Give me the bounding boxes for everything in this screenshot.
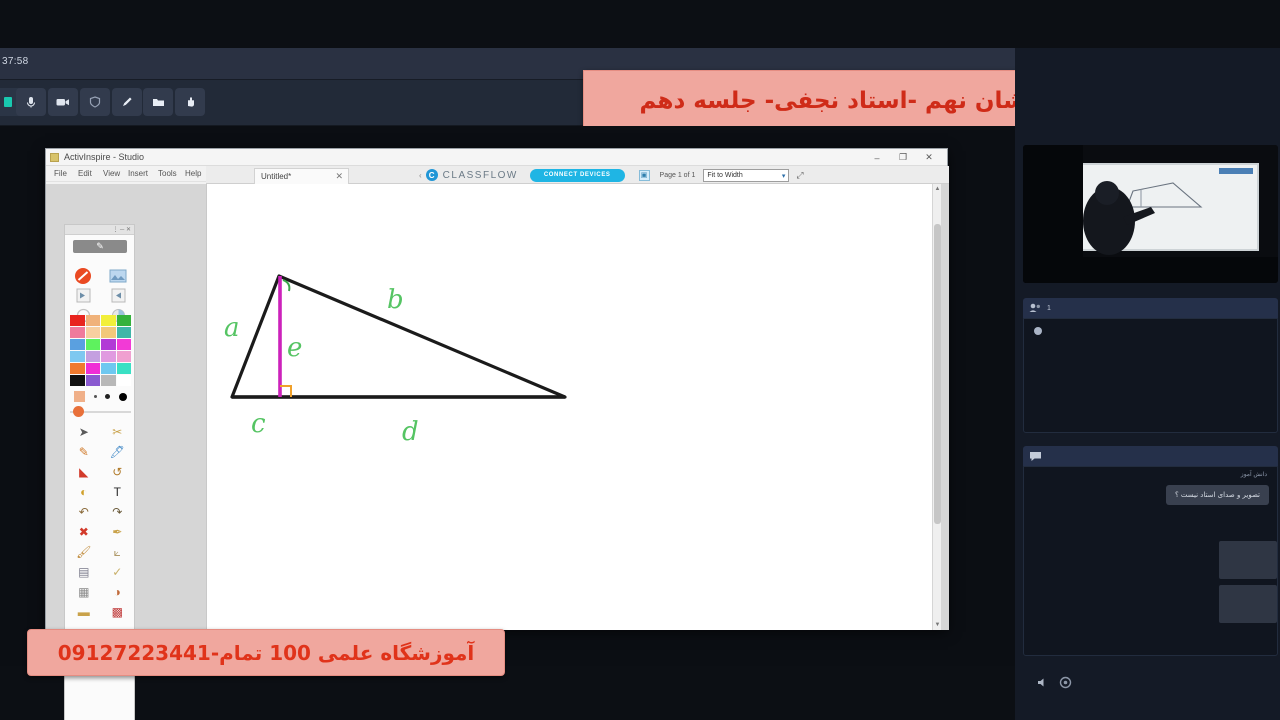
participants-icon — [1029, 303, 1041, 313]
triangle-diagram: a b c d e — [207, 184, 942, 630]
color-swatch[interactable] — [86, 375, 101, 386]
expand-icon[interactable]: ⤢ — [796, 170, 803, 181]
pen-size-swatch[interactable] — [74, 391, 85, 402]
chat-icon — [1029, 451, 1042, 462]
label-d: d — [402, 417, 419, 447]
label-b: b — [387, 285, 404, 315]
pages-panel-icon[interactable]: ▣ — [639, 170, 650, 181]
eraser-icon[interactable]: ◣ — [68, 463, 100, 481]
toolbar-button-shield[interactable] — [80, 88, 110, 116]
close-button[interactable]: ✕ — [917, 150, 941, 165]
close-icon[interactable]: ✕ — [335, 171, 343, 182]
scissors-icon[interactable]: ✂ — [102, 423, 134, 441]
chevron-left-icon[interactable]: ‹ — [419, 171, 422, 180]
label-e: e — [287, 333, 302, 363]
color-swatch[interactable] — [86, 339, 101, 350]
toolbar-button-camera[interactable] — [48, 88, 78, 116]
color-swatch[interactable] — [101, 339, 116, 350]
color-swatch[interactable] — [70, 315, 85, 326]
folder-icon — [151, 95, 166, 109]
color-swatch[interactable] — [86, 363, 101, 374]
palette-icon[interactable]: ◑ — [102, 583, 134, 601]
menu-edit[interactable]: Edit — [78, 169, 92, 178]
no-entry-tool[interactable] — [70, 267, 96, 284]
marker-icon[interactable]: ✒ — [102, 523, 134, 541]
chat-message-bubble: تصویر و صدای استاد نیست ؟ — [1166, 485, 1269, 505]
color-swatch[interactable] — [101, 375, 116, 386]
toolbar-button-hand[interactable] — [175, 88, 205, 116]
color-swatch[interactable] — [70, 351, 85, 362]
minimize-button[interactable]: – — [865, 150, 889, 165]
shape-fill-icon[interactable]: ◐ — [68, 483, 100, 501]
classflow-bar: ‹ C CLASSFLOW CONNECT DEVICES ▣ Page 1 o… — [416, 167, 949, 183]
exit-icon — [2, 95, 16, 109]
connect-devices-button[interactable]: CONNECT DEVICES — [530, 169, 625, 182]
color-swatch[interactable] — [86, 351, 101, 362]
scroll-up-icon[interactable]: ▲ — [934, 185, 941, 193]
save-icon[interactable]: ▤ — [68, 563, 100, 581]
pen-icon: ✎ — [96, 241, 104, 252]
scroll-down-icon[interactable]: ▼ — [934, 621, 941, 629]
palette-icon-grid: ➤✂✎🖊◣↺◐T↶↷✖✒🖌⟀▤✓▦◑▬▩ — [68, 423, 133, 621]
scrollbar-thumb[interactable] — [934, 224, 941, 524]
contact-banner-text: آموزشگاه علمی 100 تمام-09127223441 — [58, 641, 475, 665]
menu-insert[interactable]: Insert — [128, 169, 148, 178]
chat-sender-name: دانش آموز — [1241, 471, 1267, 478]
select-arrow-icon[interactable]: ➤ — [68, 423, 100, 441]
pen-size-xs-icon[interactable] — [94, 395, 97, 398]
chat-messages-list[interactable]: دانش آموز تصویر و صدای استاد نیست ؟ — [1023, 466, 1278, 656]
settings-icon[interactable] — [1059, 676, 1072, 689]
classflow-logo-text: CLASSFLOW — [443, 170, 518, 181]
color-swatch[interactable] — [117, 375, 132, 386]
zoom-select-value: Fit to Width — [707, 172, 742, 179]
color-swatch[interactable] — [117, 351, 132, 362]
thickness-slider[interactable] — [70, 405, 131, 418]
toolbar-button-share[interactable] — [143, 88, 173, 116]
participants-panel-header[interactable]: 1 — [1023, 298, 1278, 318]
compass-icon[interactable]: ⟀ — [102, 543, 134, 561]
teacher-camera-feed[interactable] — [1023, 145, 1278, 283]
palette-handle[interactable]: ⋮ ─ ✕ — [65, 225, 134, 235]
grid-icon[interactable]: ▩ — [102, 603, 134, 621]
slider-handle[interactable] — [73, 406, 84, 417]
toolbar-button-mic[interactable] — [16, 88, 46, 116]
color-swatch[interactable] — [117, 327, 132, 338]
undo-arrow-icon[interactable]: ↺ — [102, 463, 134, 481]
text-tool-icon[interactable]: T — [102, 483, 134, 501]
previous-page-tool[interactable] — [70, 287, 96, 304]
page-left-icon — [75, 288, 92, 303]
color-swatch[interactable] — [117, 363, 132, 374]
activinspire-titlebar: ActivInspire - Studio – ❐ ✕ — [46, 149, 947, 166]
activinspire-body: a b c d e ▲ ▼ ⋮ ─ ✕ ✎ — [46, 184, 949, 630]
page-right-icon — [110, 288, 127, 303]
label-a: a — [224, 313, 240, 343]
participant-status-dot — [1034, 327, 1042, 335]
video-frame — [1023, 145, 1278, 283]
sidebar-footer — [1023, 668, 1278, 696]
color-swatch-grid — [70, 315, 131, 386]
document-tab[interactable]: Untitled* ✕ — [254, 168, 349, 184]
chat-panel-header[interactable] — [1023, 446, 1278, 466]
classflow-logo-icon: C — [426, 169, 438, 181]
document-tab-label: Untitled* — [261, 172, 291, 181]
paint-icon[interactable]: 🖌 — [68, 543, 100, 561]
conference-sidebar: 1 دانش آموز تصویر و صدای استاد نیست ؟ — [1015, 48, 1280, 720]
contact-banner: آموزشگاه علمی 100 تمام-09127223441 — [27, 629, 505, 676]
color-swatch[interactable] — [70, 375, 85, 386]
menu-tools[interactable]: Tools — [158, 169, 177, 178]
canvas-scrollbar[interactable]: ▲ ▼ — [932, 184, 941, 630]
chat-message-placeholder — [1219, 541, 1277, 579]
palette-row-primary — [70, 267, 131, 284]
color-swatch[interactable] — [101, 351, 116, 362]
participants-list[interactable] — [1023, 318, 1278, 433]
undo-icon[interactable]: ↶ — [68, 503, 100, 521]
shield-icon — [88, 95, 102, 109]
app-logo-icon — [50, 153, 59, 162]
redo-icon[interactable]: ↷ — [102, 503, 134, 521]
folder-icon[interactable]: ▬ — [68, 603, 100, 621]
delete-star-icon[interactable]: ✖ — [68, 523, 100, 541]
color-swatch[interactable] — [70, 327, 85, 338]
microphone-icon — [24, 95, 38, 109]
image-tool-icon — [109, 268, 127, 284]
color-swatch[interactable] — [86, 315, 101, 326]
label-c: c — [251, 409, 266, 439]
menu-view[interactable]: View — [103, 169, 120, 178]
whiteboard-canvas[interactable]: a b c d e ▲ ▼ — [206, 184, 941, 630]
image-tool[interactable] — [105, 267, 131, 284]
hand-icon — [183, 95, 197, 109]
pen-size-m-icon[interactable] — [119, 393, 127, 401]
participants-count: 1 — [1047, 305, 1051, 312]
toolbar-button-pen[interactable] — [112, 88, 142, 116]
speaker-icon[interactable] — [1037, 677, 1049, 688]
activinspire-window: ActivInspire - Studio – ❐ ✕ File Edit Vi… — [45, 148, 948, 629]
page-icon[interactable]: ▦ — [68, 583, 100, 601]
palette-main-button[interactable]: ✎ — [73, 240, 127, 253]
color-swatch[interactable] — [70, 339, 85, 350]
screen-root: 37:58 تیزهوشان نهم : ١ — [0, 0, 1280, 720]
color-swatch[interactable] — [117, 339, 132, 350]
menu-file[interactable]: File — [54, 169, 67, 178]
maximize-button[interactable]: ❐ — [891, 150, 915, 165]
color-swatch[interactable] — [101, 363, 116, 374]
session-clock: 37:58 — [2, 56, 29, 67]
color-swatch[interactable] — [101, 315, 116, 326]
no-entry-icon — [74, 267, 92, 285]
page-indicator: Page 1 of 1 — [660, 172, 696, 179]
chevron-down-icon: ▾ — [782, 172, 786, 180]
pen-size-s-icon[interactable] — [105, 394, 110, 399]
menu-help[interactable]: Help — [185, 169, 201, 178]
pen-icon[interactable]: ✎ — [68, 443, 100, 461]
next-page-tool[interactable] — [105, 287, 131, 304]
pen-size-row — [70, 391, 131, 402]
notes-icon[interactable]: ✓ — [102, 563, 134, 581]
color-swatch[interactable] — [117, 315, 132, 326]
highlighter-icon[interactable]: 🖊 — [102, 443, 134, 461]
activinspire-title: ActivInspire - Studio — [64, 152, 144, 162]
camera-icon — [55, 95, 71, 109]
pen-icon — [120, 95, 134, 109]
palette-row-pages — [70, 287, 131, 304]
zoom-select[interactable]: Fit to Width ▾ — [703, 169, 789, 182]
color-swatch[interactable] — [86, 327, 101, 338]
chat-message-placeholder — [1219, 585, 1277, 623]
color-swatch[interactable] — [101, 327, 116, 338]
color-swatch[interactable] — [70, 363, 85, 374]
